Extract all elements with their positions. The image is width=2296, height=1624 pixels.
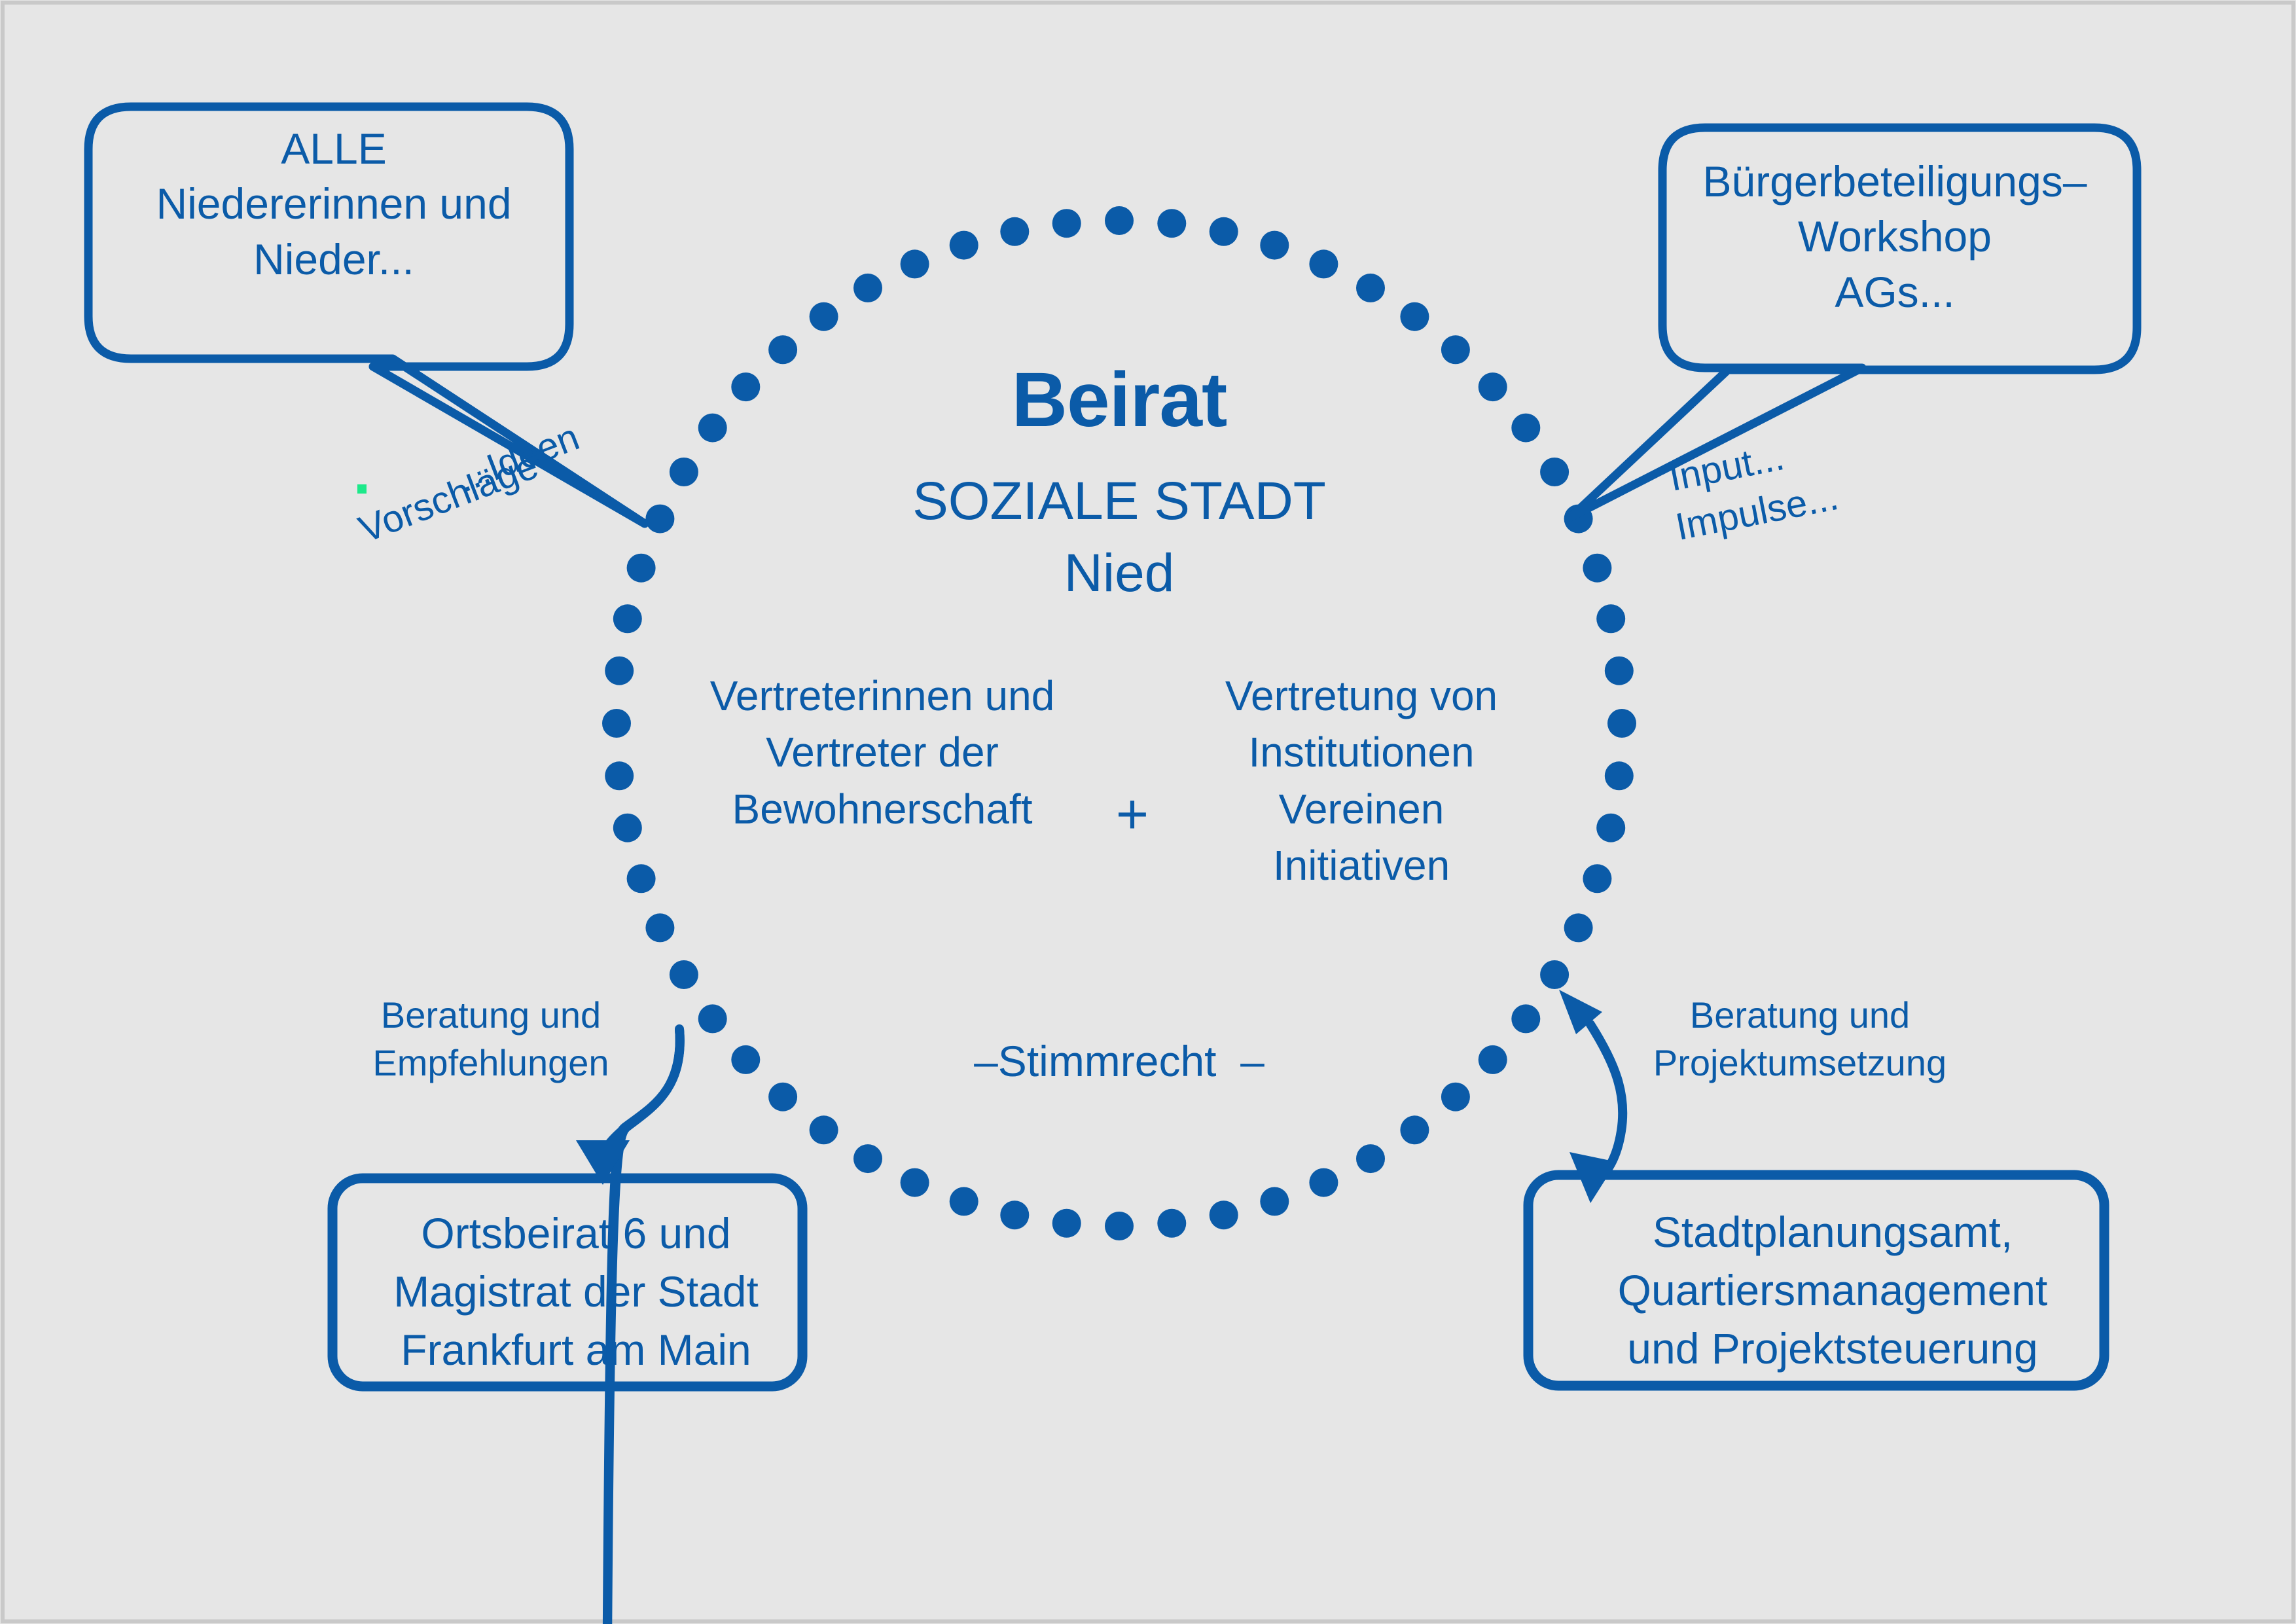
circle-dot xyxy=(1605,657,1634,685)
plus-operator: + xyxy=(1080,782,1185,847)
circle-dot xyxy=(1511,414,1540,442)
circle-dot xyxy=(613,604,642,633)
circle-dot xyxy=(627,554,656,583)
circle-dot xyxy=(1105,206,1134,235)
circle-dot xyxy=(853,274,882,302)
circle-dot xyxy=(1000,1200,1029,1229)
box-ortsbeirat-label: Ortsbeirat 6 und Magistrat der Stadt Fra… xyxy=(347,1204,805,1379)
circle-dot xyxy=(1356,1144,1385,1173)
label-beratung-projektumsetzung: Beratung und Projektumsetzung xyxy=(1636,992,1964,1087)
circle-dot xyxy=(1479,372,1507,401)
circle-dot xyxy=(1400,302,1429,331)
label-beratung-empfehlungen: Beratung und Empfehlungen xyxy=(353,992,628,1087)
stimmrecht-note: –Stimmrecht – xyxy=(857,1038,1381,1086)
circle-dot xyxy=(1356,274,1385,302)
circle-dot xyxy=(901,249,929,278)
page-title: Beirat xyxy=(772,357,1466,443)
green-accent-dot xyxy=(357,484,367,494)
circle-dot xyxy=(1583,554,1611,583)
circle-dot xyxy=(1596,604,1625,633)
circle-dot xyxy=(670,458,698,486)
circle-dot xyxy=(1210,1200,1238,1229)
circle-dot xyxy=(1511,1004,1540,1033)
circle-dot xyxy=(627,864,656,893)
circle-dot xyxy=(1260,231,1289,260)
circle-dot xyxy=(950,231,978,260)
circle-dot xyxy=(613,814,642,842)
center-subtitle-line2: Nied xyxy=(772,543,1466,604)
circle-dot xyxy=(1309,249,1338,278)
circle-dot xyxy=(645,505,674,533)
circle-dot xyxy=(1564,913,1593,942)
circle-dot xyxy=(1052,1209,1081,1238)
circle-dot xyxy=(1441,1083,1470,1111)
circle-dot xyxy=(768,1083,797,1111)
circle-dot xyxy=(605,761,634,790)
circle-dot xyxy=(1000,217,1029,246)
circle-dot xyxy=(602,709,631,738)
circle-dot xyxy=(731,1045,760,1074)
box-stadtplanungsamt-label: Stadtplanungsamt, Quartiersmanagement un… xyxy=(1545,1203,2121,1378)
circle-dot xyxy=(670,960,698,989)
circle-dot xyxy=(731,372,760,401)
circle-dot xyxy=(901,1168,929,1197)
circle-dot xyxy=(1596,814,1625,842)
circle-dot xyxy=(1260,1187,1289,1216)
circle-dot xyxy=(698,1004,727,1033)
circle-dot xyxy=(1052,209,1081,238)
center-column-right: Vertretung von Institutionen Vereinen In… xyxy=(1198,668,1525,894)
circle-dot xyxy=(1540,960,1569,989)
circle-dot xyxy=(1607,709,1636,738)
center-column-left: Vertreterinnen und Vertreter der Bewohne… xyxy=(706,668,1059,837)
circle-dot xyxy=(605,657,634,685)
circle-dot xyxy=(810,302,838,331)
circle-dot xyxy=(1540,458,1569,486)
circle-dot xyxy=(810,1115,838,1144)
center-subtitle-line1: SOZIALE STADT xyxy=(772,471,1466,532)
bubble-left-label: ALLE Niedererinnen und Nieder... xyxy=(98,121,569,287)
circle-dot xyxy=(950,1187,978,1216)
circle-dot xyxy=(1583,864,1611,893)
circle-dot xyxy=(1210,217,1238,246)
circle-dot xyxy=(1105,1212,1134,1240)
circle-dot xyxy=(1157,1209,1186,1238)
circle-dot xyxy=(698,414,727,442)
bubble-right-label: Bürgerbeteiligungs– Workshop AGs... xyxy=(1666,154,2124,319)
circle-dot xyxy=(645,913,674,942)
circle-dot xyxy=(1400,1115,1429,1144)
circle-dot xyxy=(1309,1168,1338,1197)
circle-dot xyxy=(853,1144,882,1173)
diagram-canvas: ALLE Niedererinnen und Nieder... Bürgerb… xyxy=(0,0,2296,1624)
circle-dot xyxy=(1479,1045,1507,1074)
circle-dot xyxy=(1157,209,1186,238)
circle-dot xyxy=(1605,761,1634,790)
